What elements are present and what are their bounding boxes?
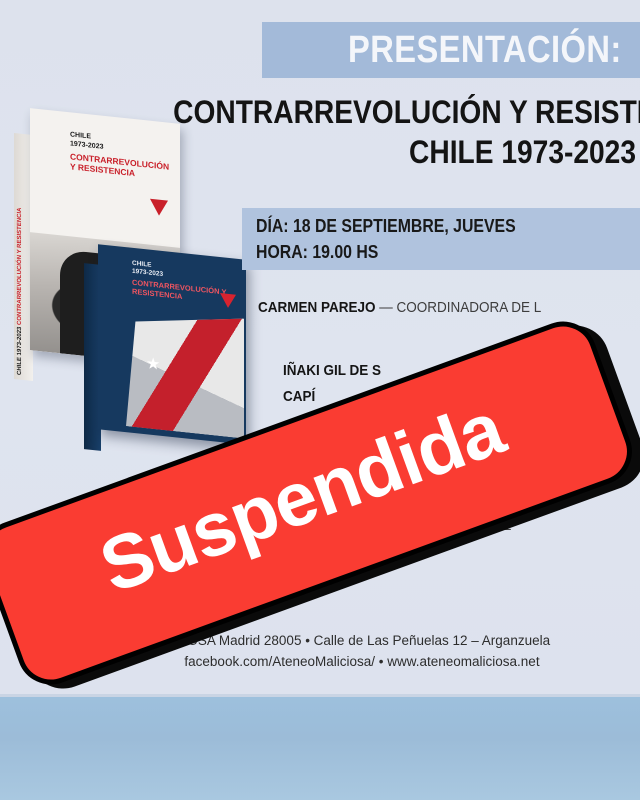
book-a-title: CHILE 1973-2023 CONTRARREVOLUCIÓN Y RESI… — [70, 130, 170, 182]
speaker-1-separator: — — [376, 299, 397, 316]
book-b-star-icon: ★ — [146, 356, 160, 374]
event-poster: PRESENTACIÓN: CONTRARREVOLUCIÓN Y RESIST… — [0, 0, 640, 697]
book-cover-b: ★ CHILE 1973-2023 CONTRARREVOLUCIÓN Y RE… — [98, 244, 246, 445]
date-line: DÍA: 18 DE SEPTIEMBRE, JUEVES — [256, 216, 516, 236]
address-line-1: CIOSA Madrid 28005 • Calle de Las Peñuel… — [174, 633, 550, 648]
speaker-1-name: CARMEN PAREJO — [258, 299, 376, 316]
book-b-photo — [126, 306, 244, 438]
poster-screenshot: PRESENTACIÓN: CONTRARREVOLUCIÓN Y RESIST… — [0, 0, 640, 800]
presentation-label: PRESENTACIÓN: — [314, 24, 632, 76]
speaker-entry-1: CARMEN PAREJO — COORDINADORA DE L — [258, 298, 541, 318]
book-a-spine-text: CHILE 1973-2023 CONTRARREVOLUCIÓN Y RESI… — [17, 207, 23, 375]
speaker-1-role: COORDINADORA DE L — [397, 299, 542, 316]
verso-mark-icon — [150, 199, 168, 217]
book-cover-group: CHILE 1973-2023 CONTRARREVOLUCIÓN Y RESI… — [14, 112, 254, 432]
speaker-2-role: CAPÍ — [283, 388, 315, 405]
verso-mark-icon-b — [220, 293, 236, 309]
time-line: HORA: 19.00 HS — [256, 242, 378, 262]
sponsor-logo-bar: Odisea Libros V VERSO FILChile — [0, 697, 640, 800]
book-b-title: CHILE 1973-2023 CONTRARREVOLUCIÓN Y RESI… — [132, 260, 228, 306]
address-line-2: facebook.com/AteneoMaliciosa/ • www.aten… — [184, 654, 539, 669]
date-time-text: DÍA: 18 DE SEPTIEMBRE, JUEVES HORA: 19.0… — [256, 213, 516, 265]
speaker-2-name: IÑAKI GIL DE S — [283, 362, 381, 379]
